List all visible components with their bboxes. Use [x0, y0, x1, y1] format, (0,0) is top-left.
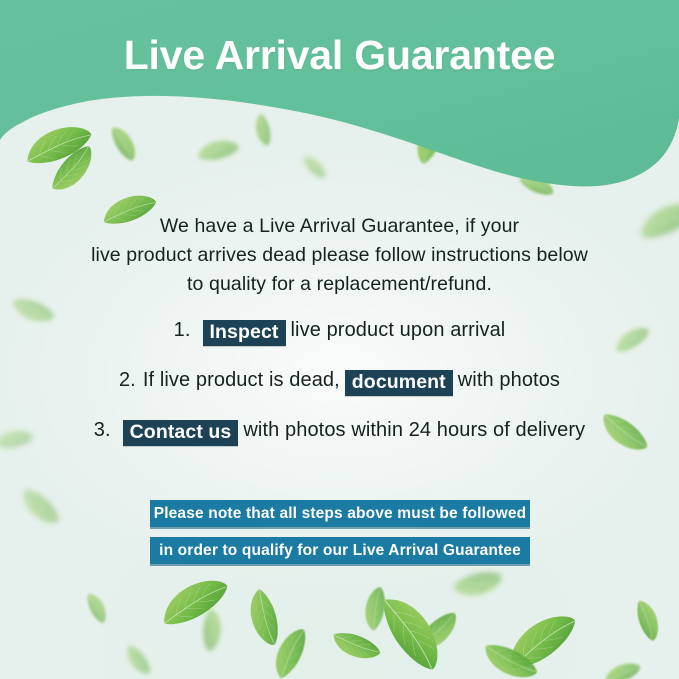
live-arrival-guarantee-poster: Live Arrival Guarantee We have a Live Ar… [0, 0, 679, 679]
footer-note: Please note that all steps above must be… [150, 500, 530, 564]
step-number-1: 1. [174, 319, 191, 342]
step-item-1: 1. Inspect live product upon arrival [0, 318, 679, 344]
step-highlight-contact-us: Contact us [123, 420, 239, 446]
step-item-3: 3. Contact us with photos within 24 hour… [0, 418, 679, 444]
step-number-2: 2. [119, 369, 136, 392]
footer-note-line-2: in order to qualify for our Live Arrival… [150, 537, 530, 564]
step-text-post-2: with photos [458, 369, 560, 392]
footer-note-line-1: Please note that all steps above must be… [150, 500, 530, 527]
steps-list: 1. Inspect live product upon arrival 2. … [0, 318, 679, 444]
step-item-2: 2. If live product is dead, document wit… [0, 368, 679, 394]
intro-line-2: live product arrives dead please follow … [0, 241, 679, 270]
step-highlight-document: document [345, 370, 453, 396]
step-highlight-inspect: Inspect [203, 320, 286, 346]
poster-content: We have a Live Arrival Guarantee, if you… [0, 0, 679, 679]
intro-line-3: to quality for a replacement/refund. [0, 270, 679, 299]
step-number-3: 3. [94, 419, 111, 442]
step-text-pre-2: If live product is dead, [143, 369, 340, 392]
step-text-post-1: live product upon arrival [291, 319, 506, 342]
step-text-post-3: with photos within 24 hours of delivery [243, 419, 585, 442]
intro-paragraph: We have a Live Arrival Guarantee, if you… [0, 212, 679, 299]
intro-line-1: We have a Live Arrival Guarantee, if you… [0, 212, 679, 241]
